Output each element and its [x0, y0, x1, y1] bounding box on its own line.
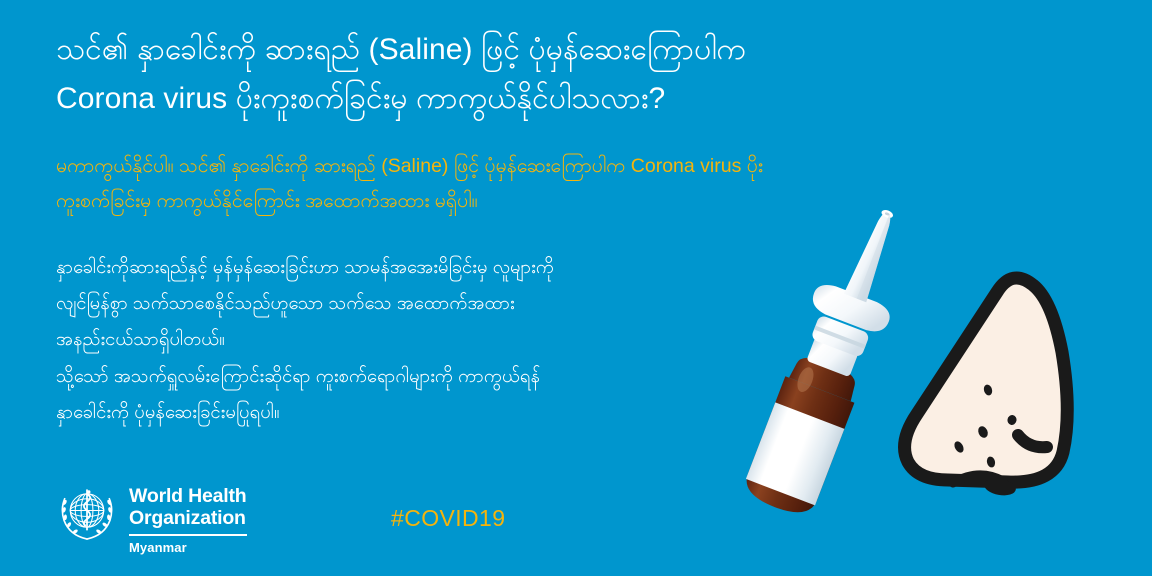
body-p2-line-2: နှာခေါင်းကို ပုံမှန်ဆေးခြင်းမပြုရပါ။: [56, 394, 796, 430]
poster-canvas: သင်၏ နှာခေါင်းကို ဆားရည် (Saline) ဖြင့် …: [0, 0, 1152, 576]
subheadline-line-1: မကာကွယ်နိုင်ပါ။ သင်၏ နှာခေါင်းကို ဆားရည်…: [56, 149, 1036, 184]
who-wordmark: World Health Organization Myanmar: [129, 482, 247, 555]
who-divider: [129, 534, 247, 536]
who-name-line-1: World Health: [129, 485, 247, 507]
headline: သင်၏ နှာခေါင်းကို ဆားရည် (Saline) ဖြင့် …: [56, 26, 1076, 123]
body-p1-line-3: အနည်းငယ်သာရှိပါတယ်။: [56, 321, 796, 357]
body-p2-line-1: သို့သော် အသက်ရှူလမ်းကြောင်းဆိုင်ရာ ကူးစက…: [56, 358, 796, 394]
who-organization-name: World Health Organization: [129, 485, 247, 529]
text-column: သင်၏ နှာခေါင်းကို ဆားရည် (Saline) ဖြင့် …: [56, 26, 1076, 430]
body-p1-line-1: နှာခေါင်းကိုဆားရည်နှင့် မှန်မှန်ဆေးခြင်း…: [56, 249, 796, 285]
body-paragraph-2: သို့သော် အသက်ရှူလမ်းကြောင်းဆိုင်ရာ ကူးစက…: [56, 358, 796, 430]
who-country-label: Myanmar: [129, 540, 247, 555]
body-paragraph-1: နှာခေါင်းကိုဆားရည်နှင့် မှန်မှန်ဆေးခြင်း…: [56, 249, 796, 357]
body-text: နှာခေါင်းကိုဆားရည်နှင့် မှန်မှန်ဆေးခြင်း…: [56, 249, 796, 430]
body-p1-line-2: လျင်မြန်စွာ သက်သာစေနိုင်သည်ဟူသော သက်သေ အ…: [56, 285, 796, 321]
subheadline-line-2: ကူးစက်ခြင်းမှ ကာကွယ်နိုင်ကြောင်း အထောက်အ…: [56, 184, 1036, 219]
headline-line-2: Corona virus ပိုးကူးစက်ခြင်းမှ ကာကွယ်နို…: [56, 75, 1076, 124]
who-emblem-icon: [56, 482, 118, 544]
subheadline: မကာကွယ်နိုင်ပါ။ သင်၏ နှာခေါင်းကို ဆားရည်…: [56, 149, 1036, 218]
headline-line-1: သင်၏ နှာခေါင်းကို ဆားရည် (Saline) ဖြင့် …: [56, 26, 1076, 75]
who-logo: World Health Organization Myanmar: [56, 482, 247, 555]
covid19-hashtag: #COVID19: [391, 505, 505, 532]
who-name-line-2: Organization: [129, 507, 247, 529]
